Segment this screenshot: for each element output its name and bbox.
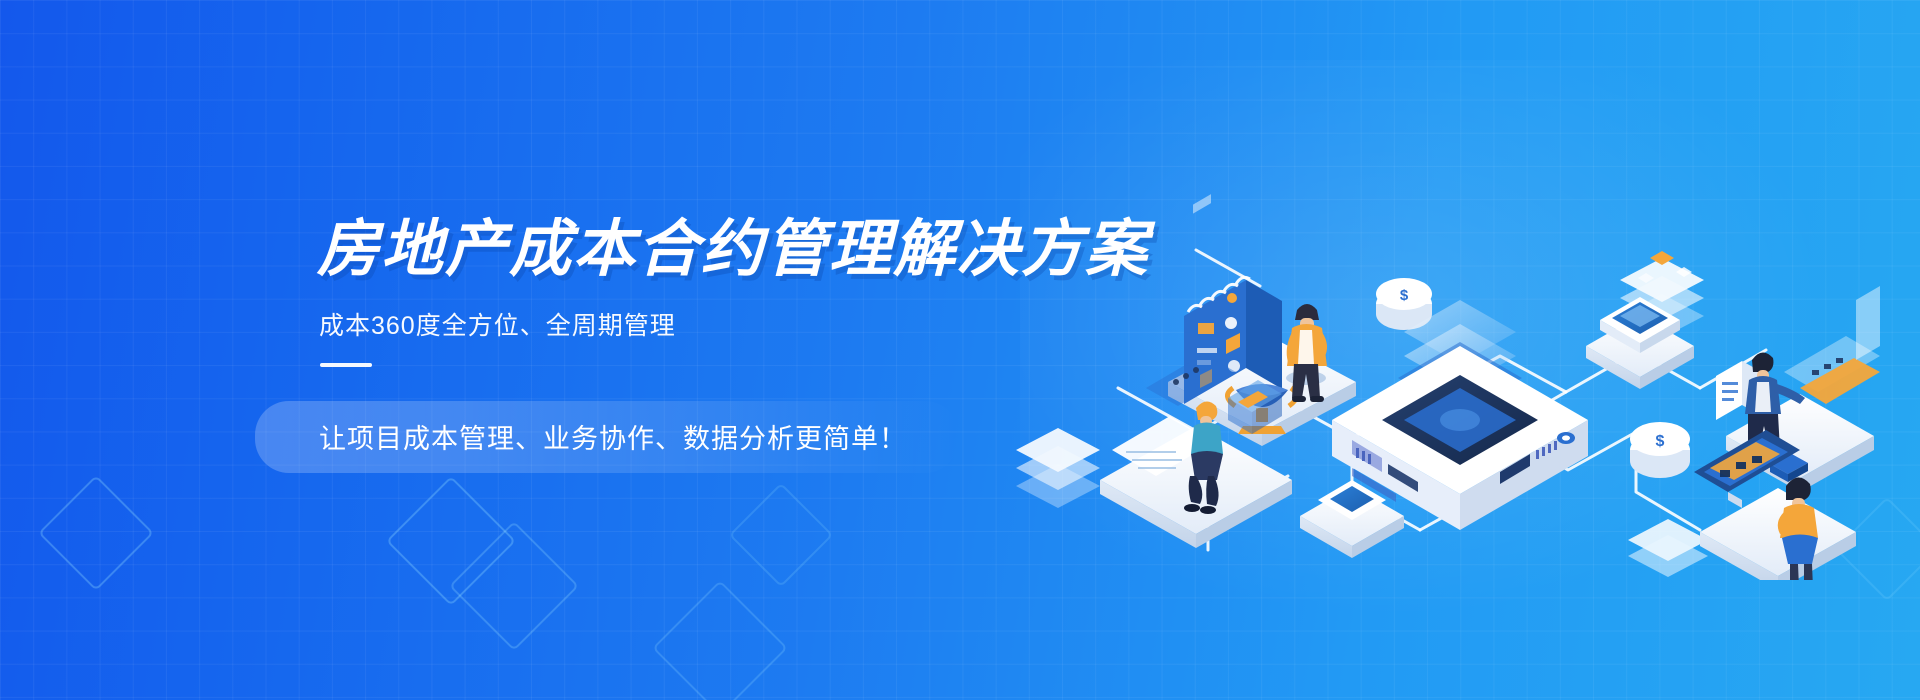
decorative-diamond-icon [38, 475, 154, 591]
hero-illustration: $ $ $ [1000, 120, 1880, 580]
svg-text:$: $ [1400, 287, 1409, 304]
svg-text:$: $ [1656, 433, 1665, 450]
decorative-diamond-icon [729, 483, 834, 588]
decorative-diamond-icon [386, 476, 516, 606]
decorative-diamond-icon [449, 521, 579, 651]
tagline-badge: 让项目成本管理、业务协作、数据分析更简单！ [255, 401, 959, 473]
divider-rule [320, 363, 372, 367]
hero-banner: 房地产成本合约管理解决方案 成本360度全方位、全周期管理 让项目成本管理、业务… [0, 0, 1920, 700]
decorative-diamond-icon [652, 580, 788, 700]
